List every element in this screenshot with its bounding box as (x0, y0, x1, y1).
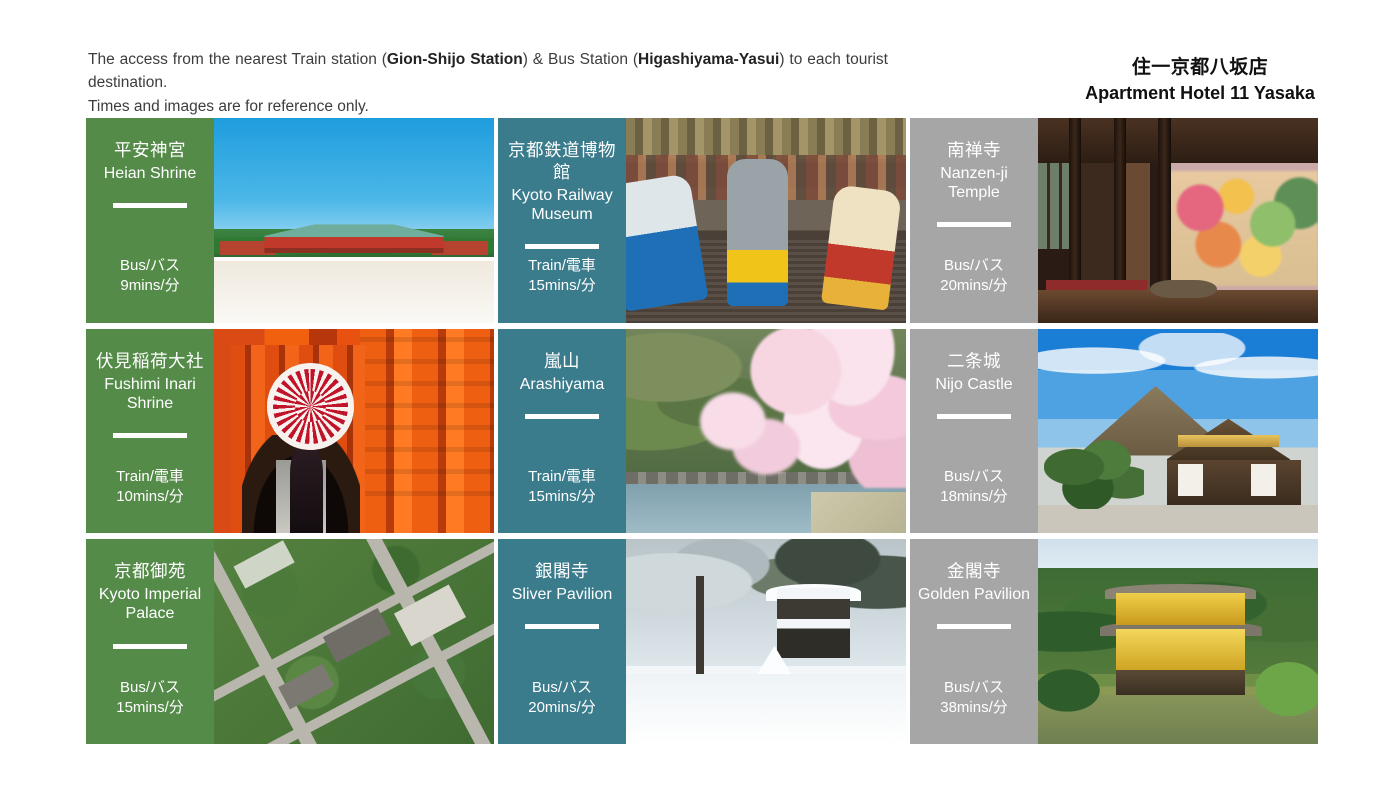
intro-disclaimer: Times and images are for reference only. (88, 95, 888, 118)
train-station-name: Gion-Shijo Station (387, 51, 523, 68)
white-panel (1251, 464, 1276, 497)
travel-info: Bus/バス 18mins/分 (940, 467, 1008, 524)
pine-trees (1044, 439, 1145, 509)
limited-express-train (727, 159, 789, 306)
destination-label: 銀閣寺 Sliver Pavilion Bus/バス 20mins/分 (498, 539, 626, 744)
travel-duration: 38mins/分 (940, 698, 1008, 718)
transport-mode: Train/電車 (116, 467, 184, 487)
transport-mode: Bus/バス (116, 678, 184, 698)
destination-name-jp: 平安神宮 (114, 140, 186, 162)
destination-name-en: Nijo Castle (935, 375, 1012, 394)
destination-label: 南禅寺 Nanzen-ji Temple Bus/バス 20mins/分 (910, 118, 1038, 323)
destination-name-en: Arashiyama (520, 375, 604, 394)
kyoto-imperial-palace-photo (214, 539, 494, 744)
divider-rule (937, 624, 1011, 629)
destination-name-en: Nanzen-ji Temple (914, 164, 1034, 202)
destination-name-en: Sliver Pavilion (512, 585, 612, 604)
destination-label: 二条城 Nijo Castle Bus/バス 18mins/分 (910, 329, 1038, 534)
temple-pillar (1069, 118, 1082, 294)
kyoto-railway-museum-photo (626, 118, 906, 323)
white-panel (1178, 464, 1203, 497)
travel-info: Train/電車 10mins/分 (116, 467, 184, 524)
river-bank (811, 492, 906, 533)
heian-shrine-photo (214, 118, 494, 323)
access-info-page: The access from the nearest Train statio… (0, 0, 1400, 788)
destination-name-jp: 二条城 (947, 351, 1001, 373)
destination-label: 平安神宮 Heian Shrine Bus/バス 9mins/分 (86, 118, 214, 323)
bus-station-name: Higashiyama-Yasui (638, 51, 779, 68)
floor-cushion (1150, 280, 1217, 298)
divider-rule (113, 644, 187, 649)
kimono-visitor (290, 447, 324, 533)
cherry-blossom-branches (688, 382, 800, 480)
destination-name-jp: 金閣寺 (947, 561, 1001, 583)
travel-info: Bus/バス 9mins/分 (120, 256, 180, 313)
shrine-right-wing (432, 241, 488, 255)
travel-info: Bus/バス 20mins/分 (528, 678, 596, 735)
transport-mode: Bus/バス (940, 256, 1008, 276)
destination-card-arashiyama[interactable]: 嵐山 Arashiyama Train/電車 15mins/分 (498, 329, 906, 534)
destination-name-jp: 南禅寺 (947, 140, 1001, 162)
travel-info: Bus/バス 15mins/分 (116, 678, 184, 735)
brand-title-en: Apartment Hotel 11 Yasaka (1020, 81, 1380, 105)
transport-mode: Bus/バス (120, 256, 180, 276)
divider-rule (937, 414, 1011, 419)
travel-duration: 18mins/分 (940, 487, 1008, 507)
divider-rule (937, 222, 1011, 227)
gate-gold-ornament (1178, 435, 1279, 447)
intro-text-c: ) & Bus Station ( (523, 51, 638, 68)
brand-title: 住一京都八坂店 Apartment Hotel 11 Yasaka (1020, 55, 1380, 105)
destination-card-nijo-castle[interactable]: 二条城 Nijo Castle Bus/バス 18mins/分 (910, 329, 1318, 534)
destination-name-jp: 京都鉄道博物館 (502, 140, 622, 184)
travel-info: Train/電車 15mins/分 (528, 256, 596, 313)
garden-tree-left (1038, 662, 1111, 719)
divider-rule (525, 414, 599, 419)
destination-name-jp: 嵐山 (544, 351, 580, 373)
divider-rule (525, 244, 599, 249)
autumn-garden (1167, 171, 1318, 286)
destination-name-en: Fushimi Inari Shrine (90, 375, 210, 413)
destination-name-jp: 京都御苑 (114, 561, 186, 583)
travel-info: Bus/バス 20mins/分 (940, 256, 1008, 313)
destination-label: 嵐山 Arashiyama Train/電車 15mins/分 (498, 329, 626, 534)
destination-name-jp: 銀閣寺 (535, 561, 589, 583)
intro-paragraph: The access from the nearest Train statio… (88, 48, 888, 118)
silver-pavilion-photo (626, 539, 906, 744)
travel-duration: 15mins/分 (528, 487, 596, 507)
destination-name-en: Kyoto Railway Museum (502, 186, 622, 224)
destination-card-silver-pavilion[interactable]: 銀閣寺 Sliver Pavilion Bus/バス 20mins/分 (498, 539, 906, 744)
destination-name-en: Heian Shrine (104, 164, 197, 183)
divider-rule (113, 203, 187, 208)
destination-card-golden-pavilion[interactable]: 金閣寺 Golden Pavilion Bus/バス 38mins/分 (910, 539, 1318, 744)
arashiyama-photo (626, 329, 906, 534)
destination-label: 金閣寺 Golden Pavilion Bus/バス 38mins/分 (910, 539, 1038, 744)
temple-pillar (1158, 118, 1171, 294)
destination-card-kyoto-railway-museum[interactable]: 京都鉄道博物館 Kyoto Railway Museum Train/電車 15… (498, 118, 906, 323)
gravel-courtyard (214, 261, 494, 322)
sky-clouds (1038, 333, 1318, 403)
travel-duration: 9mins/分 (120, 276, 180, 296)
pine-trunk (696, 576, 704, 687)
destination-name-en: Golden Pavilion (918, 585, 1030, 604)
castle-courtyard (1038, 505, 1318, 534)
palace-building (234, 540, 295, 588)
museum-ceiling (626, 118, 906, 159)
travel-duration: 15mins/分 (116, 698, 184, 718)
snow-covered-trees (626, 539, 906, 666)
destination-label: 伏見稲荷大社 Fushimi Inari Shrine Train/電車 10m… (86, 329, 214, 534)
travel-duration: 10mins/分 (116, 487, 184, 507)
destination-name-jp: 伏見稲荷大社 (96, 351, 204, 373)
pavilion-gold-tier-upper (1116, 593, 1245, 626)
travel-duration: 20mins/分 (940, 276, 1008, 296)
nijo-castle-photo (1038, 329, 1318, 534)
transport-mode: Train/電車 (528, 467, 596, 487)
pavilion-gold-tier-middle (1116, 629, 1245, 670)
divider-rule (113, 433, 187, 438)
transport-mode: Bus/バス (940, 678, 1008, 698)
transport-mode: Bus/バス (528, 678, 596, 698)
fushimi-inari-shrine-photo (214, 329, 494, 534)
vintage-train (821, 184, 902, 310)
temple-pillar (1114, 118, 1127, 294)
shrine-left-wing (220, 241, 276, 255)
transport-mode: Train/電車 (528, 256, 596, 276)
travel-info: Train/電車 15mins/分 (528, 467, 596, 524)
transport-mode: Bus/バス (940, 467, 1008, 487)
palace-building (278, 664, 334, 709)
destination-label: 京都鉄道博物館 Kyoto Railway Museum Train/電車 15… (498, 118, 626, 323)
intro-text-a: The access from the nearest Train statio… (88, 51, 387, 68)
destination-grid: 平安神宮 Heian Shrine Bus/バス 9mins/分 京都鉄道博物館… (86, 118, 1318, 744)
divider-rule (525, 624, 599, 629)
destination-card-kyoto-imperial-palace[interactable]: 京都御苑 Kyoto Imperial Palace Bus/バス 15mins… (86, 539, 494, 744)
destination-card-heian-shrine[interactable]: 平安神宮 Heian Shrine Bus/バス 9mins/分 (86, 118, 494, 323)
golden-pavilion-photo (1038, 539, 1318, 744)
pavilion-base-floor (1116, 670, 1245, 695)
travel-duration: 15mins/分 (528, 276, 596, 296)
torii-inscriptions (360, 337, 494, 501)
destination-label: 京都御苑 Kyoto Imperial Palace Bus/バス 15mins… (86, 539, 214, 744)
destination-name-en: Kyoto Imperial Palace (90, 585, 210, 623)
garden-tree-right (1245, 654, 1318, 724)
travel-info: Bus/バス 38mins/分 (940, 678, 1008, 735)
nanzenji-temple-photo (1038, 118, 1318, 323)
ginkakuji-pavilion (777, 588, 850, 658)
wagasa-umbrella (267, 363, 354, 450)
destination-card-nanzenji-temple[interactable]: 南禅寺 Nanzen-ji Temple Bus/バス 20mins/分 (910, 118, 1318, 323)
destination-card-fushimi-inari-shrine[interactable]: 伏見稲荷大社 Fushimi Inari Shrine Train/電車 10m… (86, 329, 494, 534)
snow-garden (626, 674, 906, 744)
brand-title-jp: 住一京都八坂店 (1020, 55, 1380, 81)
travel-duration: 20mins/分 (528, 698, 596, 718)
